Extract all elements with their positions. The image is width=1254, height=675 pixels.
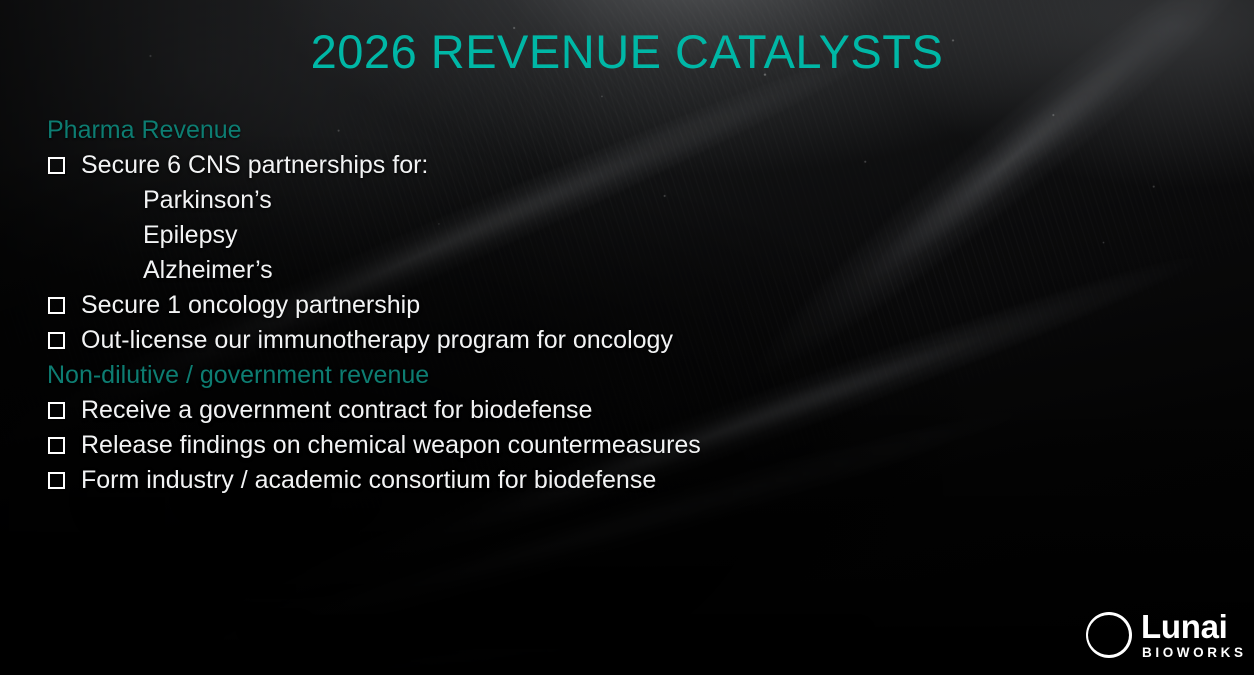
logo-wordmark: Lunai BIOWORKS xyxy=(1141,610,1247,660)
slide-title: 2026 REVENUE CATALYSTS xyxy=(0,24,1254,79)
presentation-slide: 2026 REVENUE CATALYSTS Pharma Revenue Se… xyxy=(0,0,1254,675)
logo-tagline: BIOWORKS xyxy=(1141,646,1247,660)
section-heading-pharma-revenue: Pharma Revenue xyxy=(47,113,947,148)
redaction-mark xyxy=(253,620,870,643)
bullet-item: Release findings on chemical weapon coun… xyxy=(47,428,947,463)
sub-item: Epilepsy xyxy=(143,218,947,253)
empty-checkbox-icon[interactable] xyxy=(48,332,65,349)
bullet-item: Out-license our immunotherapy program fo… xyxy=(47,323,947,358)
section-heading-non-dilutive-revenue: Non-dilutive / government revenue xyxy=(47,358,947,393)
company-logo: Lunai BIOWORKS xyxy=(1086,610,1247,660)
bullet-item: Receive a government contract for biodef… xyxy=(47,393,947,428)
bullet-item: Form industry / academic consortium for … xyxy=(47,463,947,498)
bullet-label: Release findings on chemical weapon coun… xyxy=(81,428,701,463)
bullet-label: Out-license our immunotherapy program fo… xyxy=(81,323,673,358)
empty-checkbox-icon[interactable] xyxy=(48,402,65,419)
bullet-label: Form industry / academic consortium for … xyxy=(81,463,656,498)
slide-body: Pharma Revenue Secure 6 CNS partnerships… xyxy=(47,113,947,498)
empty-checkbox-icon[interactable] xyxy=(48,157,65,174)
empty-checkbox-icon[interactable] xyxy=(48,472,65,489)
bullet-item: Secure 1 oncology partnership xyxy=(47,288,947,323)
bullet-label: Secure 6 CNS partnerships for: xyxy=(81,148,428,183)
logo-company-name: Lunai xyxy=(1141,610,1247,643)
sub-item: Alzheimer’s xyxy=(143,253,947,288)
circle-ring-icon xyxy=(1086,612,1132,658)
bullet-label: Secure 1 oncology partnership xyxy=(81,288,420,323)
empty-checkbox-icon[interactable] xyxy=(48,297,65,314)
bullet-label: Receive a government contract for biodef… xyxy=(81,393,592,428)
sub-item: Parkinson’s xyxy=(143,183,947,218)
empty-checkbox-icon[interactable] xyxy=(48,437,65,454)
bullet-item: Secure 6 CNS partnerships for: xyxy=(47,148,947,183)
